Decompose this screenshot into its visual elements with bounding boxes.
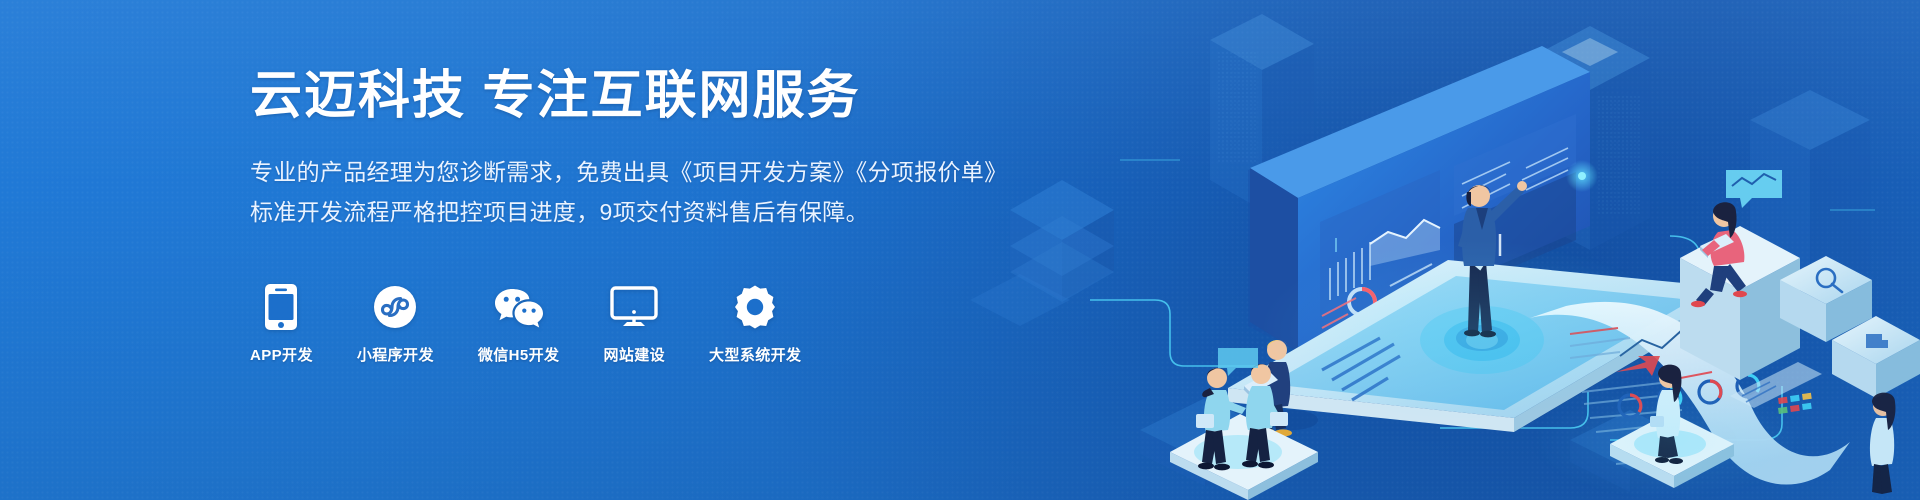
page-title: 云迈科技 专注互联网服务 xyxy=(250,66,1010,127)
service-icon-row: APP开发 小程序开发 xyxy=(250,283,801,365)
mini-program-icon xyxy=(373,283,417,331)
subtitle-line-1: 专业的产品经理为您诊断需求，免费出具《项目开发方案》《分项报价单》 xyxy=(250,153,1010,193)
monitor-icon xyxy=(610,283,658,331)
service-item-wechat-h5[interactable]: 微信H5开发 xyxy=(478,283,560,365)
service-label-app: APP开发 xyxy=(250,344,313,365)
person-edge-right xyxy=(1870,393,1896,494)
hero-banner: 云迈科技 专注互联网服务 专业的产品经理为您诊断需求，免费出具《项目开发方案》《… xyxy=(0,0,1920,500)
service-label-large-system: 大型系统开发 xyxy=(709,344,801,365)
illustration-isometric-business-analytics xyxy=(970,0,1920,500)
subtitle-line-2: 标准开发流程严格把控项目进度，9项交付资料售后有保障。 xyxy=(250,193,1010,233)
service-label-website: 网站建设 xyxy=(603,344,665,365)
gear-icon xyxy=(732,283,778,331)
service-item-website[interactable]: 网站建设 xyxy=(603,283,665,365)
service-item-mini-program[interactable]: 小程序开发 xyxy=(357,283,434,365)
service-item-large-system[interactable]: 大型系统开发 xyxy=(709,283,801,365)
service-label-mini-program: 小程序开发 xyxy=(357,344,434,365)
hero-copy: 云迈科技 专注互联网服务 专业的产品经理为您诊断需求，免费出具《项目开发方案》《… xyxy=(250,66,1010,232)
service-item-app[interactable]: APP开发 xyxy=(250,283,313,365)
wechat-icon xyxy=(493,283,545,331)
hero-subtitle: 专业的产品经理为您诊断需求，免费出具《项目开发方案》《分项报价单》 标准开发流程… xyxy=(250,153,1010,232)
mobile-phone-icon xyxy=(264,283,298,331)
service-label-wechat-h5: 微信H5开发 xyxy=(478,344,560,365)
